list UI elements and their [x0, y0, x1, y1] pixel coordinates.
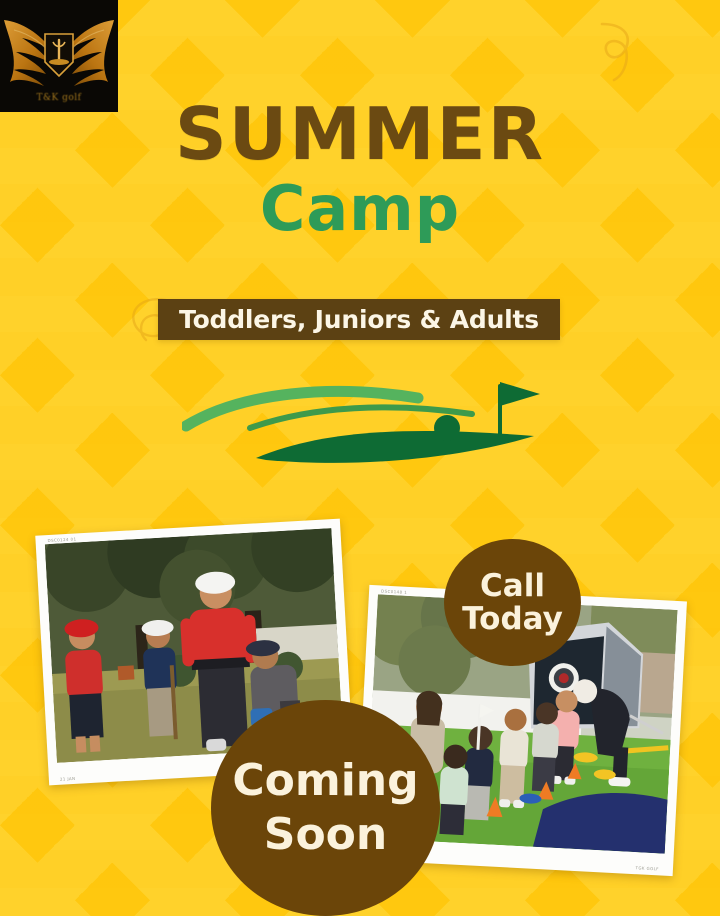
golf-green-flag-graphic — [182, 368, 542, 480]
audience-banner-label: Toddlers, Juniors & Adults — [179, 305, 539, 334]
coming-soon-badge: Coming Soon — [211, 700, 440, 916]
coming-soon-line1: Coming — [232, 757, 418, 805]
photo-micro-label: TGK GOLF — [635, 865, 659, 871]
coming-soon-line2: Soon — [264, 811, 387, 859]
summer-camp-poster: T&K golf SUMMER Camp Toddlers, Juniors &… — [0, 0, 720, 916]
brand-logo: T&K golf — [0, 0, 118, 112]
call-today-badge[interactable]: Call Today — [444, 539, 581, 666]
call-today-line1: Call — [480, 570, 545, 603]
call-today-line2: Today — [462, 603, 563, 636]
title-summer: SUMMER — [0, 98, 720, 170]
page-title: SUMMER Camp — [0, 98, 720, 240]
title-camp: Camp — [0, 178, 720, 240]
audience-banner: Toddlers, Juniors & Adults — [158, 299, 560, 340]
photo-micro-label: 21 JAN — [60, 776, 76, 782]
